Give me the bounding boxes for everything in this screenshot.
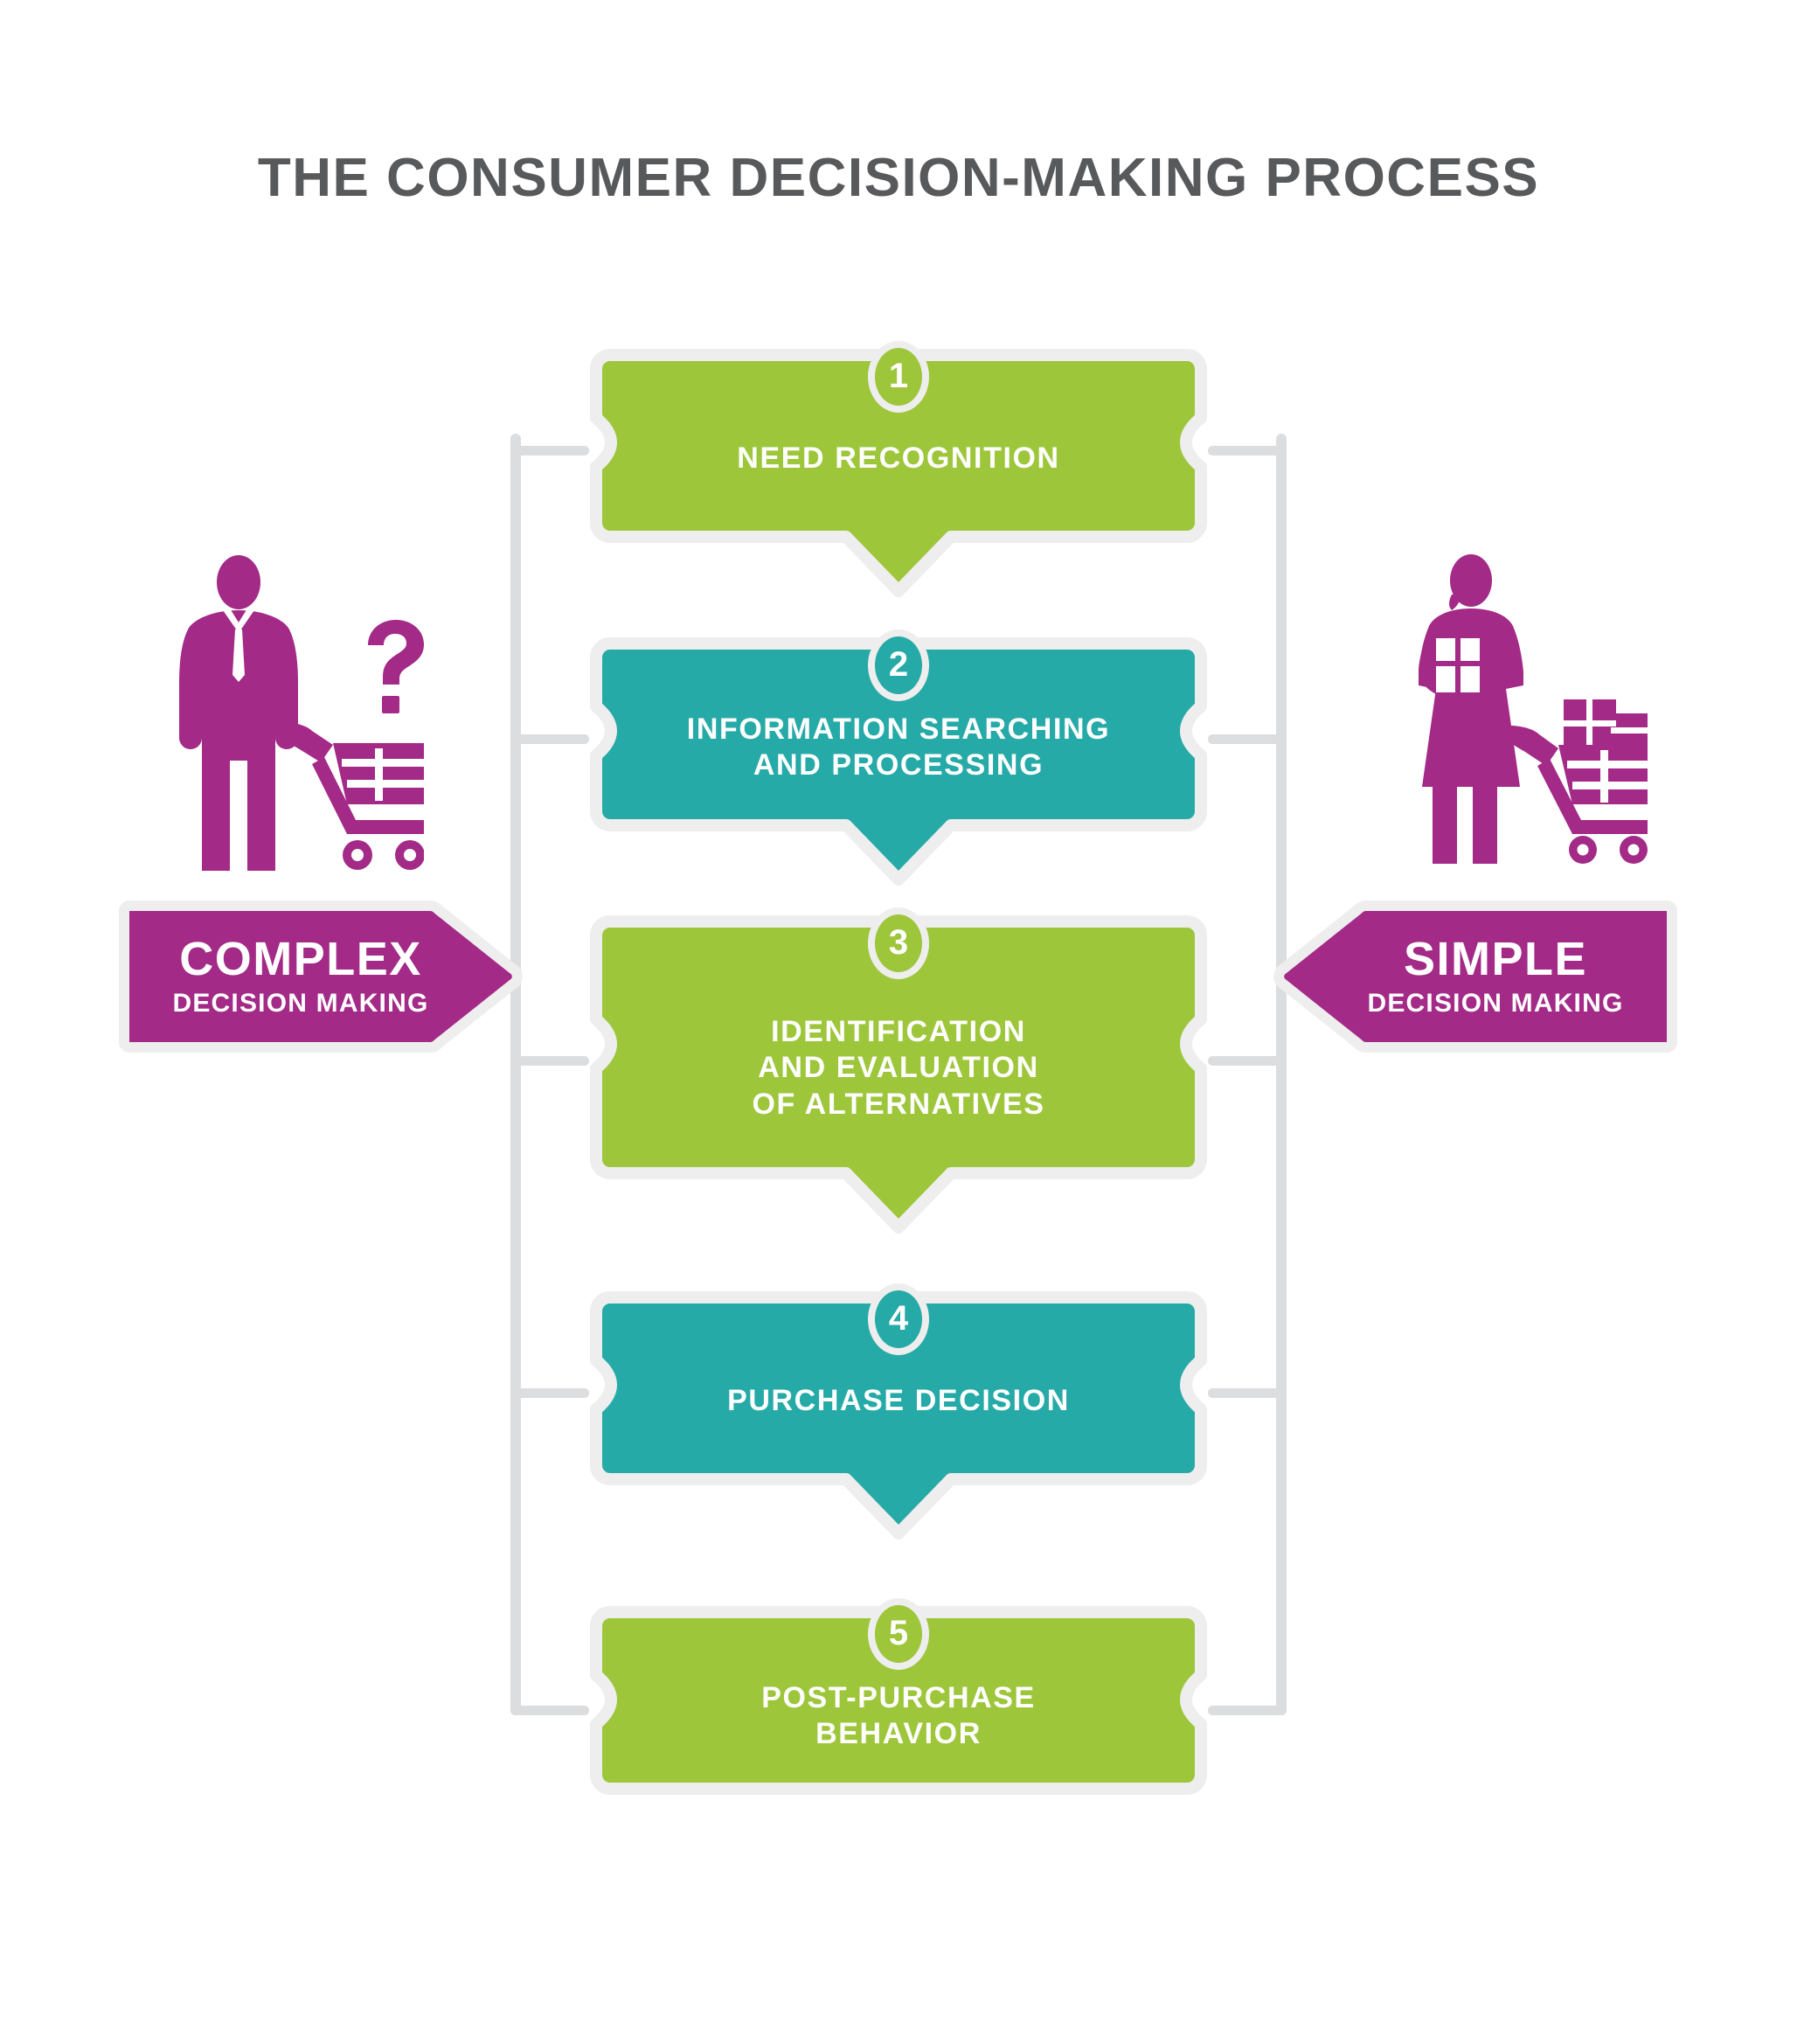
connector-stub-right-4 [1208,1388,1287,1398]
connector-stub-right-5 [1208,1706,1287,1715]
step-3[interactable]: 3 IDENTIFICATION AND EVALUATION OF ALTER… [584,909,1213,1198]
step-1[interactable]: 1 NEED RECOGNITION [584,343,1213,561]
businessman-with-empty-cart-and-question-mark-icon [162,542,424,874]
arrow-shape-right [122,893,524,1060]
step-number: 3 [868,907,929,979]
step-number: 5 [868,1598,929,1670]
connector-bracket-left [510,434,521,1715]
woman-with-full-cart-and-shopping-list-icon [1385,535,1648,867]
simple-decision-making-arrow[interactable]: SIMPLE DECISION MAKING [1272,893,1674,1060]
connector-stub-left-1 [510,446,589,455]
step-number: 2 [868,629,929,701]
step-banner: 1 NEED RECOGNITION [584,343,1213,561]
step-banner: 2 INFORMATION SEARCHING AND PROCESSING [584,631,1213,850]
step-4[interactable]: 4 PURCHASE DECISION [584,1285,1213,1504]
step-2[interactable]: 2 INFORMATION SEARCHING AND PROCESSING [584,631,1213,850]
page-title: THE CONSUMER DECISION-MAKING PROCESS [0,147,1797,209]
connector-stub-left-4 [510,1388,589,1398]
step-number: 4 [868,1283,929,1355]
step-number: 1 [868,341,929,413]
connector-bracket-right [1276,434,1287,1715]
connector-stub-left-2 [510,734,589,744]
arrow-shape-left [1272,893,1674,1060]
connector-stub-right-2 [1208,734,1287,744]
infographic-canvas: THE CONSUMER DECISION-MAKING PROCESS 1 N… [0,0,1797,2044]
step-5[interactable]: 5 POST-PURCHASE BEHAVIOR [584,1600,1213,1801]
step-banner: 3 IDENTIFICATION AND EVALUATION OF ALTER… [584,909,1213,1198]
businessman-figure-icon [162,542,424,874]
step-banner: 5 POST-PURCHASE BEHAVIOR [584,1600,1213,1801]
connector-stub-right-1 [1208,446,1287,455]
woman-figure-icon [1385,535,1648,867]
connector-stub-left-5 [510,1706,589,1715]
step-number-badge: 2 [868,629,929,701]
step-banner: 4 PURCHASE DECISION [584,1285,1213,1504]
step-number-badge: 3 [868,907,929,979]
step-number-badge: 5 [868,1598,929,1670]
complex-decision-making-arrow[interactable]: COMPLEX DECISION MAKING [122,893,524,1060]
step-number-badge: 1 [868,341,929,413]
step-number-badge: 4 [868,1283,929,1355]
